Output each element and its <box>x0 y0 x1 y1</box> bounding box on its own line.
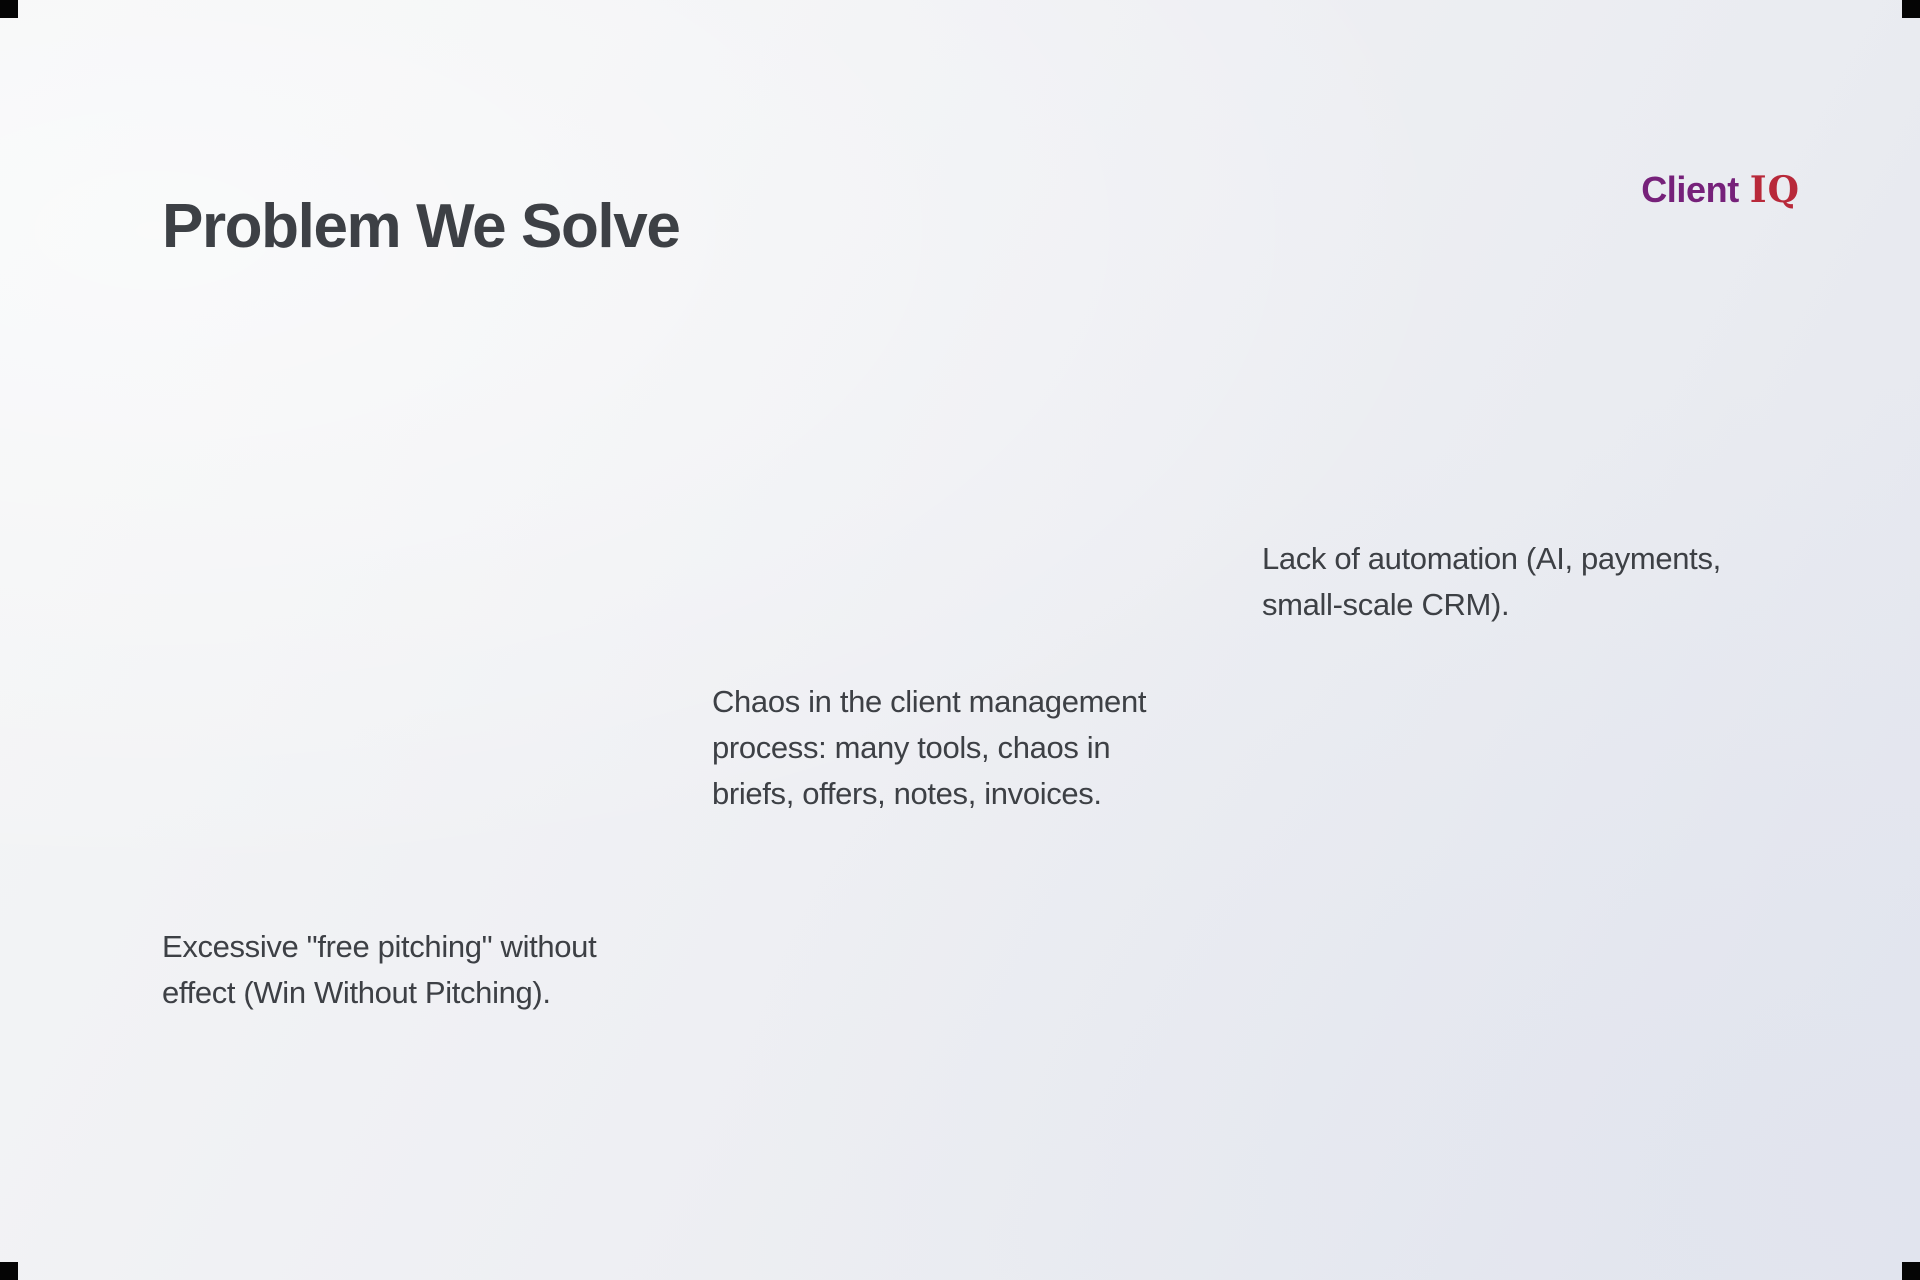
brand-name-iq: IQ <box>1750 169 1800 211</box>
statement-client-management-chaos: Chaos in the client management process: … <box>712 679 1182 817</box>
page-title: Problem We Solve <box>162 194 679 259</box>
crop-mark-top-right <box>1902 0 1920 18</box>
crop-mark-bottom-left <box>0 1262 18 1280</box>
brand-logo: ClientIQ <box>1641 172 1800 208</box>
statement-lack-of-automation: Lack of automation (AI, payments, small-… <box>1262 536 1762 628</box>
crop-mark-top-left <box>0 0 18 18</box>
crop-mark-bottom-right <box>1902 1262 1920 1280</box>
slide-canvas: Problem We Solve ClientIQ Excessive "fre… <box>0 0 1920 1280</box>
brand-name-client: Client <box>1641 169 1739 210</box>
statement-free-pitching: Excessive "free pitching" without effect… <box>162 924 614 1016</box>
